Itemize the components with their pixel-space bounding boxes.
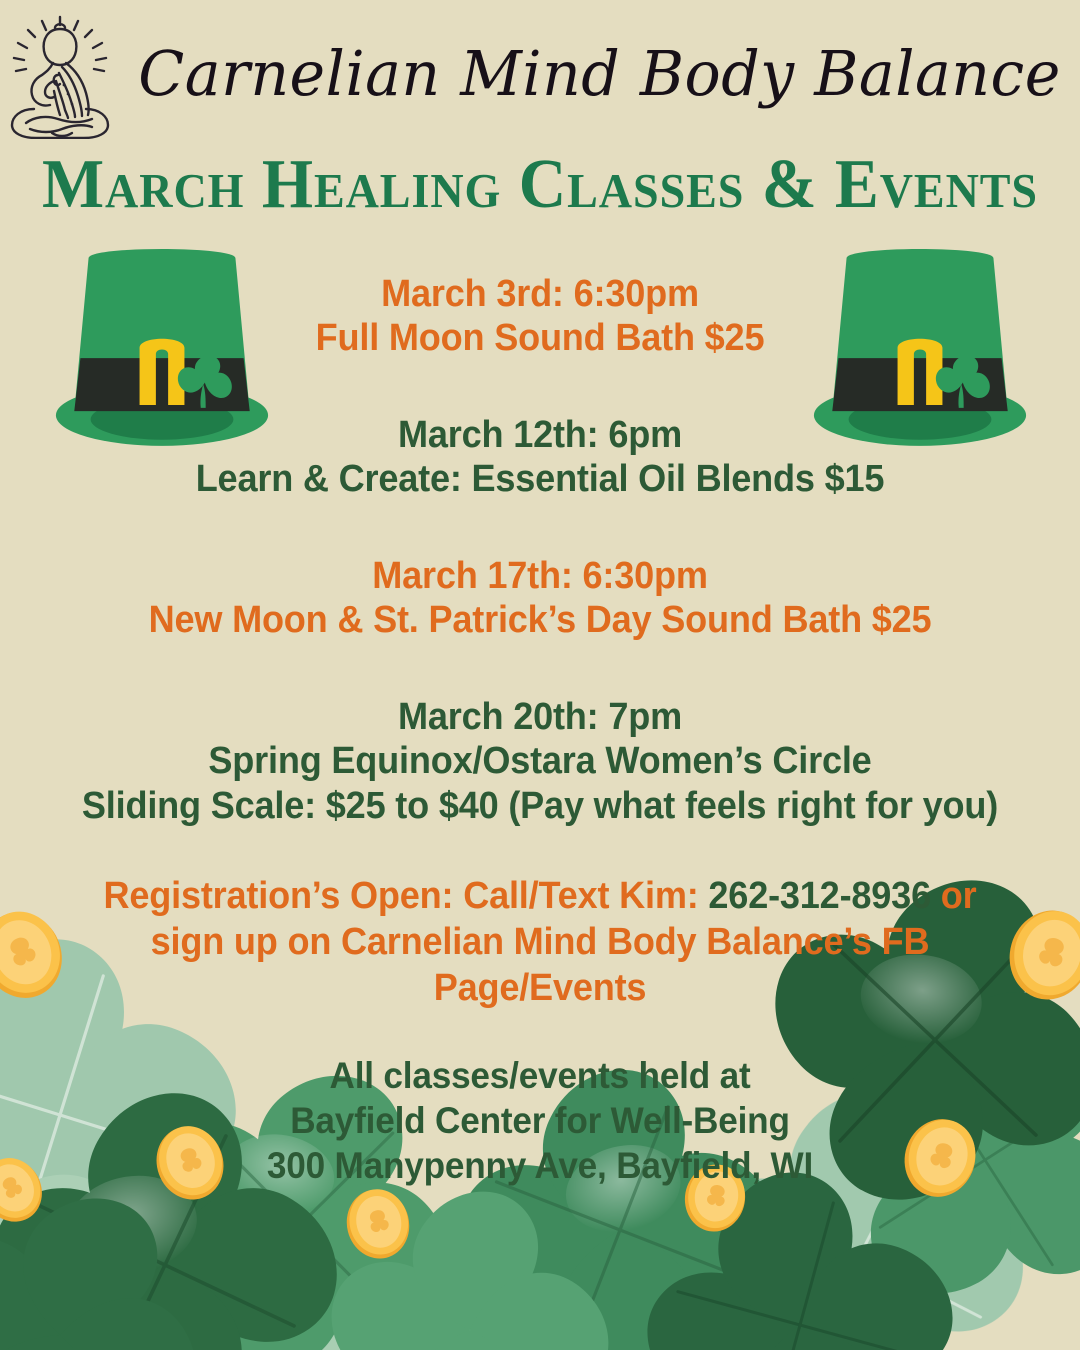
event-new-moon-st-patricks-sound-bath: March 17th: 6:30pm New Moon & St. Patric… [27, 554, 1053, 643]
event-line: Full Moon Sound Bath $25 [27, 316, 1053, 360]
registration-info: Registration’s Open: Call/Text Kim: 262-… [65, 874, 1015, 1012]
event-line: Learn & Create: Essential Oil Blends $15 [27, 457, 1053, 501]
spacer [0, 1012, 1080, 1054]
page-title: March Healing Classes & Events [32, 150, 1047, 220]
event-line: March 12th: 6pm [27, 413, 1053, 457]
events-list: March 3rd: 6:30pm Full Moon Sound Bath $… [0, 272, 1080, 1188]
event-line: Sliding Scale: $25 to $40 (Pay what feel… [27, 784, 1053, 828]
location-info: All classes/events held at Bayfield Cent… [27, 1054, 1053, 1188]
spacer [0, 361, 1080, 413]
event-essential-oil-blends: March 12th: 6pm Learn & Create: Essentia… [27, 413, 1053, 502]
location-line: All classes/events held at [27, 1054, 1053, 1099]
spacer [0, 828, 1080, 874]
registration-lead: Registration’s Open: Call/Text Kim: [103, 875, 708, 917]
event-line: Spring Equinox/Ostara Women’s Circle [27, 739, 1053, 783]
event-full-moon-sound-bath: March 3rd: 6:30pm Full Moon Sound Bath $… [27, 272, 1053, 361]
event-line: March 17th: 6:30pm [27, 554, 1053, 598]
event-spring-equinox-ostara-womens-circle: March 20th: 7pm Spring Equinox/Ostara Wo… [27, 695, 1053, 828]
brand-name: Carnelian Mind Body Balance [139, 43, 1062, 105]
poster-canvas: Carnelian Mind Body Balance March Healin… [0, 0, 1080, 1350]
registration-phone[interactable]: 262-312-8936 [708, 875, 931, 917]
location-line: 300 Manypenny Ave, Bayfield, WI [27, 1144, 1053, 1189]
spacer [0, 502, 1080, 554]
event-line: March 3rd: 6:30pm [27, 272, 1053, 316]
location-line: Bayfield Center for Well-Being [27, 1099, 1053, 1144]
event-line: New Moon & St. Patrick’s Day Sound Bath … [27, 598, 1053, 642]
brand-header: Carnelian Mind Body Balance [0, 6, 1080, 141]
spacer [0, 643, 1080, 695]
event-line: March 20th: 7pm [27, 695, 1053, 739]
meditating-buddha-icon [4, 11, 116, 139]
